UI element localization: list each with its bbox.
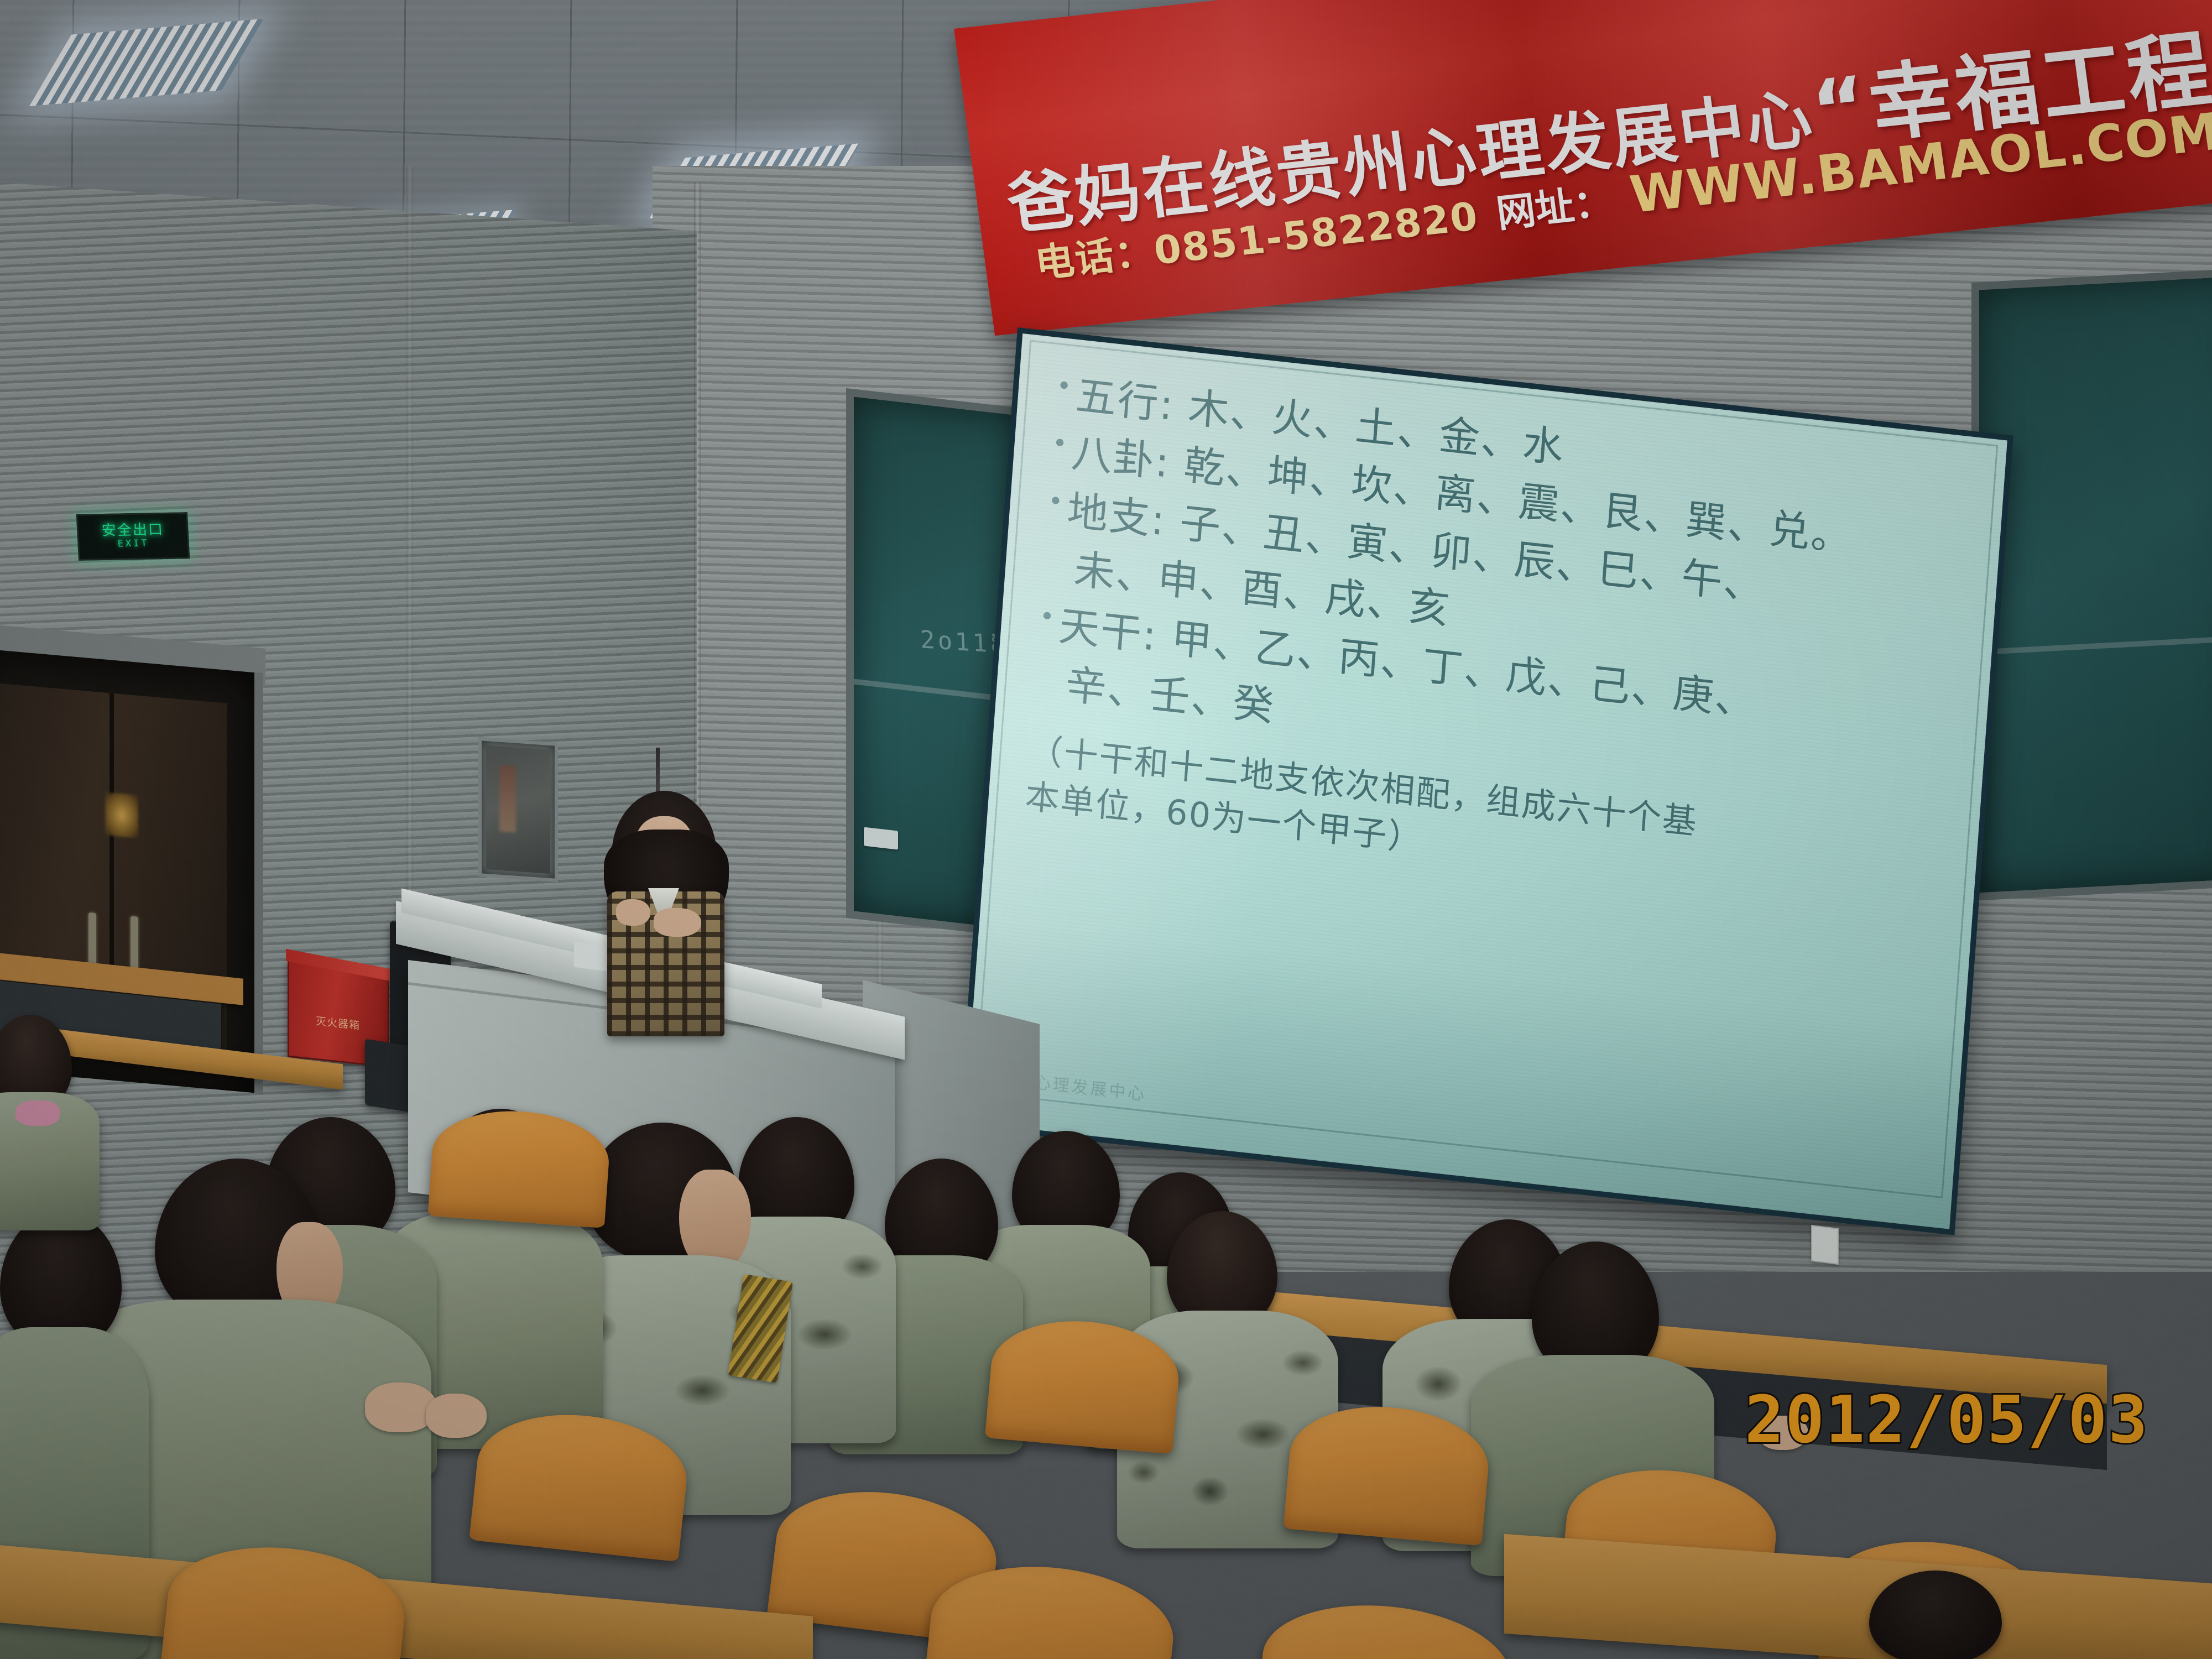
presenter-hand xyxy=(654,908,701,937)
chalk-holder[interactable] xyxy=(864,827,898,850)
wall-mounted-frame xyxy=(478,737,558,882)
wall-frame-inner xyxy=(486,745,550,874)
wall-seam xyxy=(406,166,413,995)
banner-website-label: 网址： xyxy=(1493,171,1615,239)
fire-box-label: 灭火器箱 xyxy=(294,1010,382,1035)
projection-screen: 五行: 木、火、土、金、水 八卦: 乾、坤、坎、离、震、艮、巽、兑。 地支: 子… xyxy=(964,333,2007,1229)
presentation-slide: 五行: 木、火、土、金、水 八卦: 乾、坤、坎、离、震、艮、巽、兑。 地支: 子… xyxy=(1021,366,1978,919)
exit-sign-english-label: EXIT xyxy=(117,537,149,550)
presenter xyxy=(601,791,733,1034)
photograph-lecture-hall: 安全出口 EXIT 灭火器箱 2o11ξ1 xyxy=(0,0,2212,1659)
presenter-hand xyxy=(616,899,650,926)
camera-date-stamp: 2012/05/03 xyxy=(1745,1381,2148,1458)
exit-sign-chinese-label: 安全出口 xyxy=(101,523,164,538)
seat-back[interactable] xyxy=(1254,1594,1517,1659)
wall-outlet[interactable] xyxy=(1811,1225,1839,1265)
audience-hand xyxy=(426,1394,487,1438)
door-light-reflection xyxy=(105,792,138,838)
wall-frame-content xyxy=(499,765,516,833)
chalkboard-rail xyxy=(1979,636,2212,655)
audience-hand xyxy=(365,1383,437,1432)
chalkboard-right xyxy=(1971,268,2212,901)
projection-screen-frame: 五行: 木、火、土、金、水 八卦: 乾、坤、坎、离、震、艮、巽、兑。 地支: 子… xyxy=(959,327,2013,1235)
exit-sign: 安全出口 EXIT xyxy=(76,512,190,560)
slide-footer: 心理发展中心 xyxy=(1034,1068,1147,1105)
pink-item xyxy=(15,1100,60,1126)
